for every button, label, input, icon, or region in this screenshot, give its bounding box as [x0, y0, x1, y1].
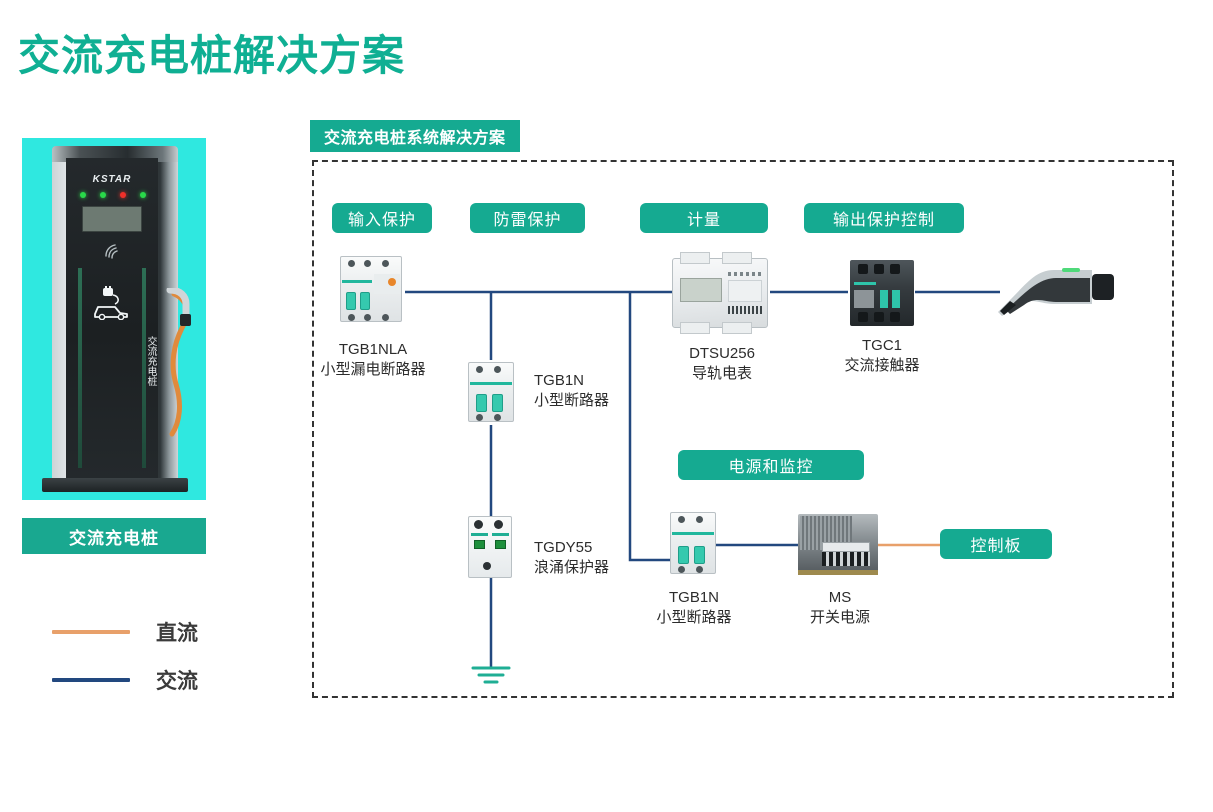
- product-photo: KSTAR 交流充电桩: [22, 138, 206, 500]
- pill-power-and-monitoring[interactable]: 电源和监控: [678, 450, 864, 480]
- label-mcb-surge-model: TGB1N: [534, 371, 642, 391]
- label-contactor-desc: 交流接触器: [802, 356, 962, 376]
- ev-charging-icon: [66, 286, 158, 325]
- brand-logo: KSTAR: [66, 174, 158, 185]
- label-energy-meter: DTSU256 导轨电表: [642, 344, 802, 384]
- ev-charging-connector: [996, 258, 1114, 328]
- label-rcbo-desc: 小型漏电断路器: [293, 360, 453, 380]
- led-green-3: [140, 192, 146, 198]
- legend: 直流 交流: [52, 608, 198, 704]
- rcbo-test-button: [388, 278, 396, 286]
- label-rcbo-model: TGB1NLA: [293, 340, 453, 360]
- legend-item-ac: 交流: [52, 656, 198, 704]
- meter-lcd-display: [680, 278, 722, 302]
- label-mcb-aux-desc: 小型断路器: [614, 608, 774, 628]
- component-power-supply: [796, 508, 882, 584]
- pill-surge-protection[interactable]: 防雷保护: [470, 203, 585, 233]
- led-green-1: [80, 192, 86, 198]
- label-psu-model: MS: [760, 588, 920, 608]
- pill-metering[interactable]: 计量: [640, 203, 768, 233]
- label-power-supply: MS 开关电源: [760, 588, 920, 628]
- page-title: 交流充电桩解决方案: [18, 22, 405, 83]
- led-red: [120, 192, 126, 198]
- label-spd-desc: 浪涌保护器: [534, 558, 666, 578]
- diagram-banner: 交流充电桩系统解决方案: [310, 120, 520, 152]
- pill-input-protection[interactable]: 输入保护: [332, 203, 432, 233]
- component-rcbo: [338, 248, 408, 330]
- label-meter-desc: 导轨电表: [642, 364, 802, 384]
- legend-label-ac: 交流: [156, 665, 198, 695]
- label-spd-model: TGDY55: [534, 538, 666, 558]
- legend-item-dc: 直流: [52, 608, 198, 656]
- label-spd: TGDY55 浪涌保护器: [466, 538, 666, 578]
- label-mcb-aux: TGB1N 小型断路器: [614, 588, 774, 628]
- component-contactor: [846, 256, 918, 332]
- label-mcb-surge-desc: 小型断路器: [534, 391, 642, 411]
- label-psu-desc: 开关电源: [760, 608, 920, 628]
- pile-vertical-text: 交流充电桩: [66, 336, 158, 386]
- label-mcb-surge-leg: TGB1N 小型断路器: [462, 371, 642, 411]
- legend-swatch-ac: [52, 678, 130, 682]
- label-mcb-aux-model: TGB1N: [614, 588, 774, 608]
- label-contactor-model: TGC1: [802, 336, 962, 356]
- led-green-2: [100, 192, 106, 198]
- legend-swatch-dc: [52, 630, 130, 634]
- label-contactor: TGC1 交流接触器: [802, 336, 962, 376]
- display-screen: [82, 206, 142, 232]
- charging-cable: [160, 288, 182, 438]
- product-caption: 交流充电桩: [22, 518, 206, 554]
- charging-pile-base: [42, 478, 188, 492]
- component-mcb-aux: [668, 508, 720, 582]
- component-energy-meter: [672, 252, 772, 334]
- label-meter-model: DTSU256: [642, 344, 802, 364]
- rfid-icon: [66, 242, 158, 265]
- pill-output-protection-control[interactable]: 输出保护控制: [804, 203, 964, 233]
- led-indicators: [80, 192, 146, 198]
- label-rcbo: TGB1NLA 小型漏电断路器: [293, 340, 453, 380]
- legend-label-dc: 直流: [156, 617, 198, 647]
- pill-control-board[interactable]: 控制板: [940, 529, 1052, 559]
